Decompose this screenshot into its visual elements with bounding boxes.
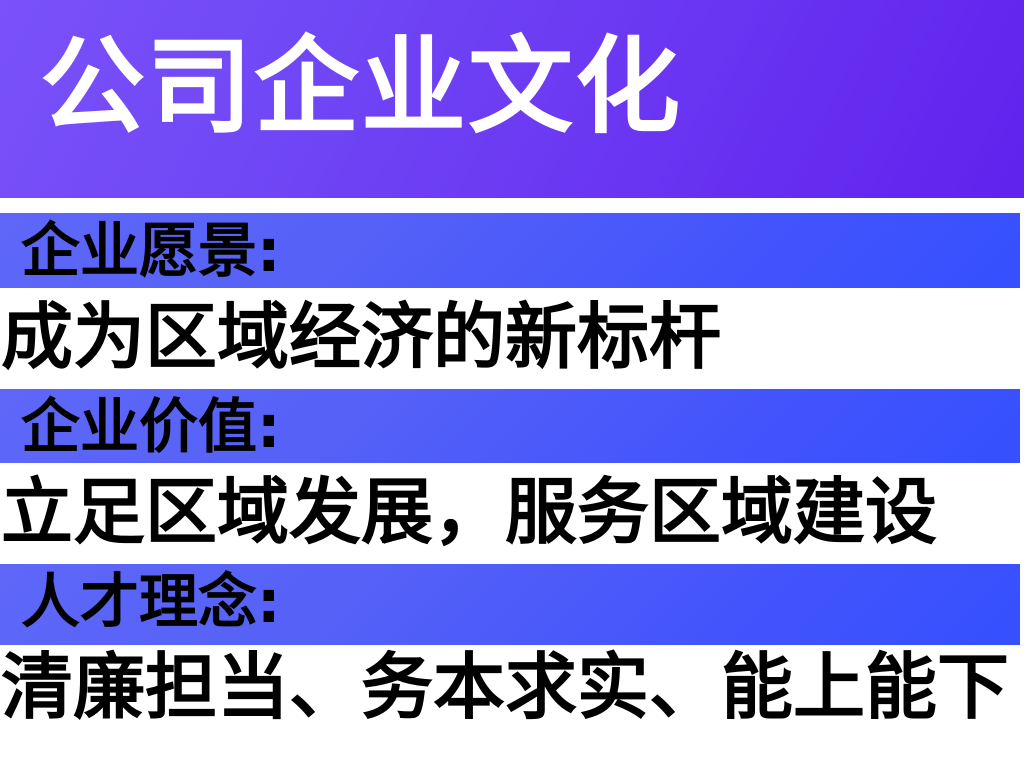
section-label-talent: 人才理念: <box>21 568 281 636</box>
section-content-talent: 清廉担当、务本求实、能上能下 <box>1 645 1009 729</box>
page-title: 公司企业文化 <box>40 28 682 146</box>
slide-canvas: 公司企业文化 企业愿景: 成为区域经济的新标杆 企业价值: 立足区域发展，服务区… <box>0 0 1024 768</box>
section-band-talent: 人才理念: <box>0 564 1020 645</box>
section-band-vision: 企业愿景: <box>0 213 1020 288</box>
section-band-values: 企业价值: <box>0 389 1020 463</box>
section-content-vision: 成为区域经济的新标杆 <box>1 295 721 379</box>
title-banner: 公司企业文化 <box>0 0 1024 198</box>
section-label-vision: 企业愿景: <box>21 217 281 285</box>
section-label-values: 企业价值: <box>21 393 281 461</box>
section-content-values: 立足区域发展，服务区域建设 <box>1 470 937 554</box>
